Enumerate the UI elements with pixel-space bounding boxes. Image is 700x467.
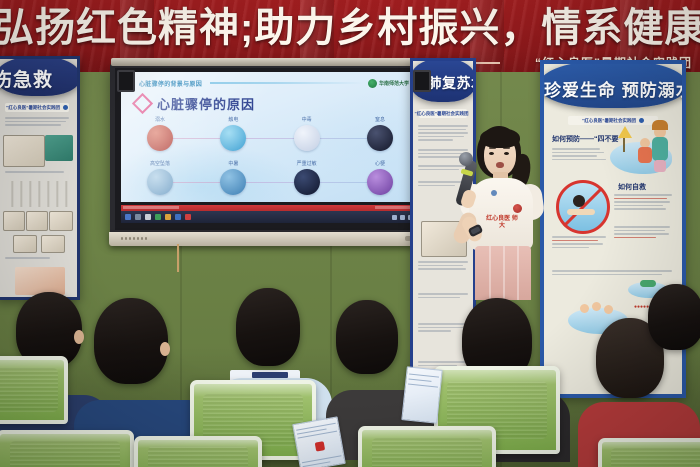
slide-breadcrumb: 心脏骤停的背景与原因	[139, 79, 202, 88]
warning-triangle-icon	[618, 126, 632, 138]
slide-icon-cell: 心梗	[357, 160, 403, 195]
chair[interactable]	[598, 438, 700, 467]
app-icon-green[interactable]	[155, 214, 161, 220]
chair[interactable]	[134, 436, 262, 467]
cause-photo-icon	[367, 169, 393, 195]
slide-icon-cell: 高空坠落	[137, 160, 183, 195]
icon-caption: 溺水	[155, 116, 165, 123]
board-top-rail	[111, 58, 431, 66]
app-icon-blue[interactable]	[175, 214, 181, 220]
windows-taskbar[interactable]	[121, 211, 425, 223]
poster-photo-bottom	[15, 267, 65, 295]
slide-icon-cell: 触电	[210, 116, 256, 151]
slide-title: 心脏骤停的原因	[157, 94, 255, 113]
poster-tag: “红心良医”暑期社会实践团	[419, 109, 467, 118]
icon-caption: 触电	[228, 116, 238, 123]
chair[interactable]	[358, 426, 496, 467]
presenter: 红心良医 师大	[455, 120, 545, 300]
pamphlet[interactable]	[401, 366, 442, 423]
cause-photo-icon	[220, 125, 246, 151]
audience-head	[236, 288, 300, 366]
logo-text: 华南师范大学	[379, 80, 409, 87]
poster-photo	[45, 135, 73, 161]
poster-illustration	[3, 135, 45, 167]
cause-photo-icon	[294, 169, 320, 195]
chair[interactable]	[0, 356, 68, 424]
audience-head	[336, 300, 398, 374]
board-pen-tray	[109, 232, 439, 246]
swimmer-icon	[640, 280, 656, 287]
diamond-icon	[132, 93, 153, 114]
slide-icon-row-2: 高空坠落 中暑 严重过敏 心梗	[137, 160, 403, 195]
board-clip-right	[413, 70, 431, 92]
slide-icon-cell: 溺水	[137, 116, 183, 151]
smart-board[interactable]: 心脏骤停的背景与原因 华南师范大学 心脏骤停的原因 溺水 触电	[110, 63, 438, 235]
poster-tag: “红心良医”暑期社会实践团	[5, 103, 69, 112]
icon-caption: 窒息	[375, 116, 385, 123]
banner-title: 弘扬红色精神;助力乡村振兴，情系健康中国	[0, 2, 684, 54]
slide-title-row: 心脏骤停的原因	[135, 94, 255, 113]
audience-head	[648, 284, 700, 350]
pamphlet[interactable]	[292, 416, 346, 467]
poster-section-title: 如何自救	[618, 182, 646, 192]
slide-header: 心脏骤停的背景与原因 华南师范大学	[131, 78, 409, 88]
slide-icon-cell: 中毒	[284, 116, 330, 151]
icon-caption: 严重过敏	[297, 160, 317, 167]
presentation-screen[interactable]: 心脏骤停的背景与原因 华南师范大学 心脏骤停的原因 溺水 触电	[121, 72, 417, 202]
start-icon[interactable]	[125, 214, 131, 220]
cause-photo-icon	[147, 125, 173, 151]
cause-photo-icon	[294, 125, 320, 151]
no-swimming-icon	[556, 180, 610, 234]
poster-tag: “红心良医”暑期社会实践团	[568, 116, 658, 125]
cause-photo-icon	[367, 125, 393, 151]
poster-figure-row	[5, 181, 69, 207]
slide-icon-cell: 窒息	[357, 116, 403, 151]
chair[interactable]	[0, 430, 134, 467]
app-icon-yellow[interactable]	[165, 214, 171, 220]
board-clip-left	[117, 70, 135, 92]
university-logo: 华南师范大学	[368, 79, 409, 88]
slide-icon-cell: 中暑	[210, 160, 256, 195]
poster-subtitle: 如何预防——“四不要”	[552, 134, 622, 144]
cause-photo-icon	[147, 169, 173, 195]
audience-head	[94, 298, 168, 384]
presenter-skirt	[475, 246, 531, 300]
pamphlet-logo-icon	[315, 441, 325, 451]
slide-icon-cell: 严重过敏	[284, 160, 330, 195]
logo-mark-icon	[368, 79, 377, 88]
icon-caption: 心梗	[375, 160, 385, 167]
shirt-logo-icon	[513, 204, 522, 213]
explorer-icon[interactable]	[145, 214, 151, 220]
search-icon[interactable]	[135, 214, 141, 220]
icon-caption: 高空坠落	[150, 160, 170, 167]
poster-first-aid: 伤急救 “红心良医”暑期社会实践团	[0, 56, 80, 300]
icon-caption: 中毒	[302, 116, 312, 123]
slide-icon-row-1: 溺水 触电 中毒 窒息	[137, 116, 403, 151]
powerpoint-icon[interactable]	[185, 214, 191, 220]
icon-caption: 中暑	[228, 160, 238, 167]
cause-photo-icon	[220, 169, 246, 195]
shirt-text: 红心良医 师大	[485, 216, 519, 230]
poster-title: 珍爱生命 预防溺水	[544, 76, 682, 101]
poster-title: 伤急救	[0, 65, 77, 92]
photo-scene: 弘扬红色精神;助力乡村振兴，情系健康中国 “红心良医”暑期社会实践团 心脏骤停的…	[0, 0, 700, 467]
